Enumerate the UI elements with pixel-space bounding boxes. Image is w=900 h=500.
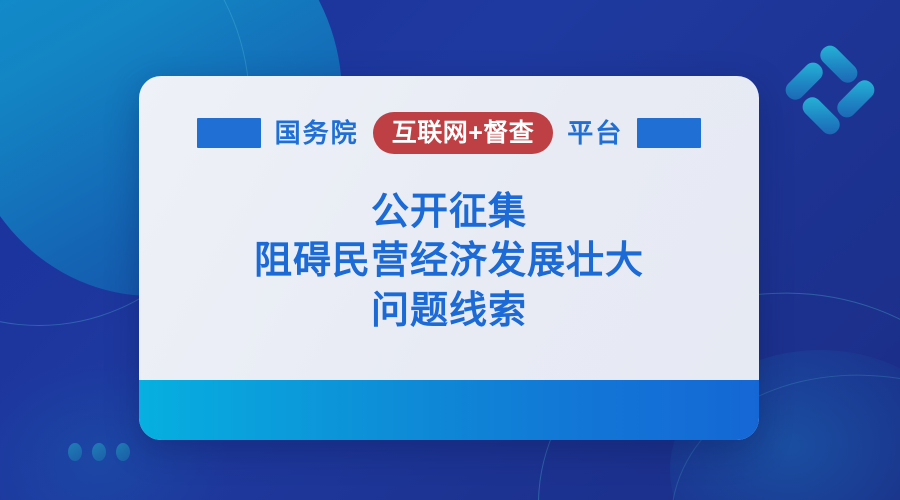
- poster-card: 国务院 互联网+督查 平台 公开征集 阻碍民营经济发展壮大 问题线索: [139, 76, 759, 440]
- diamond-pinwheel-logo-icon: [782, 42, 878, 138]
- headline-line-3: 问题线索: [139, 287, 759, 336]
- brand-platform-label: 平台: [567, 120, 623, 146]
- brand-block-right: [637, 118, 701, 148]
- dot-decoration: [116, 443, 130, 461]
- poster-canvas: 国务院 互联网+督查 平台 公开征集 阻碍民营经济发展壮大 问题线索: [0, 0, 900, 500]
- diamond-bar-top: [817, 42, 862, 87]
- dot-decoration: [92, 443, 106, 461]
- dot-row-decoration: [68, 443, 130, 461]
- brand-block-left: [197, 118, 261, 148]
- diamond-bar-right: [834, 77, 879, 122]
- diamond-bar-left: [782, 59, 827, 104]
- brand-agency-label: 国务院: [275, 120, 359, 146]
- headline: 公开征集 阻碍民营经济发展壮大 问题线索: [139, 188, 759, 336]
- card-footer-gradient-bar: [139, 380, 759, 440]
- diamond-bar-bottom: [799, 94, 844, 139]
- headline-line-1: 公开征集: [139, 188, 759, 237]
- dot-decoration: [68, 443, 82, 461]
- card-body: 国务院 互联网+督查 平台 公开征集 阻碍民营经济发展壮大 问题线索: [139, 76, 759, 380]
- brand-row: 国务院 互联网+督查 平台: [139, 112, 759, 154]
- headline-line-2: 阻碍民营经济发展壮大: [139, 237, 759, 286]
- brand-badge-internet-plus-supervision: 互联网+督查: [373, 112, 554, 154]
